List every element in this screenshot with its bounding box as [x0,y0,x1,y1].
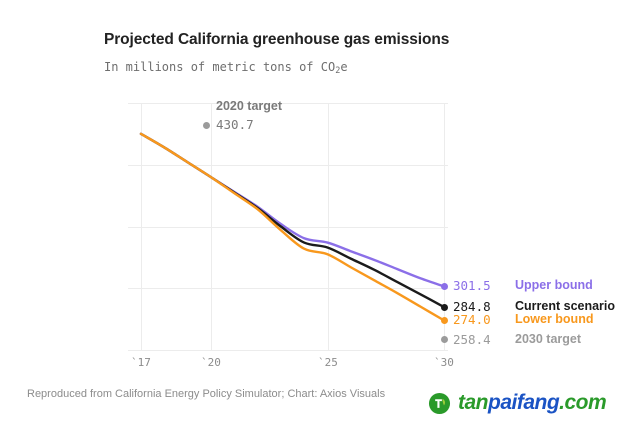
endpoint-value-lower-bound: 274.0 [453,312,491,327]
xtick-label-2025: `25 [318,356,338,369]
gridline-y-350 [128,227,448,228]
gridline-y-450 [128,103,448,104]
chart-title: Projected California greenhouse gas emis… [104,31,449,49]
chart-subtitle-subscript: 2 [335,66,340,76]
endpoint-value-2030-target: 258.4 [453,332,491,347]
footer-credit: Reproduced from California Energy Policy… [27,388,385,400]
annotation-2020-target-value: 430.7 [216,117,254,132]
footer-divider [0,378,630,379]
legend-label-2030-target: 2030 target [515,332,581,346]
plot-area [128,103,448,350]
chart-card: Projected California greenhouse gas emis… [0,0,630,427]
gridline-x-2020 [211,103,212,350]
endpoint-dot-2030-target [441,336,448,343]
watermark-text: tanpaifang.com [458,391,606,415]
annotation-2020-target-label: 2020 target [216,99,282,113]
gridline-y-300 [128,288,448,289]
chart-subtitle-prefix: In millions of metric tons of CO [104,60,335,74]
endpoint-value-upper-bound: 301.5 [453,278,491,293]
annotation-2020-target-dot [203,122,210,129]
xtick-label-2017: `17 [131,356,151,369]
gridline-y-400 [128,165,448,166]
watermark: tanpaifang.com [428,391,606,415]
tanpaifang-leaf-logo-icon [428,392,451,415]
gridline-x-2030 [444,103,445,350]
endpoint-dot-upper-bound [441,283,448,290]
gridline-x-2017 [141,103,142,350]
gridline-x-2025 [328,103,329,350]
chart-subtitle: In millions of metric tons of CO2e [104,60,348,74]
watermark-text-part3: .com [559,391,606,414]
xtick-label-2020: `20 [201,356,221,369]
endpoint-dot-lower-bound [441,317,448,324]
gridline-y-250 [128,350,448,351]
legend-label-upper-bound: Upper bound [515,278,593,292]
endpoint-dot-current-scenario [441,304,448,311]
xtick-label-2030: `30 [434,356,454,369]
chart-subtitle-suffix: e [340,60,347,74]
watermark-text-part1: tan [458,391,488,414]
legend-label-lower-bound: Lower bound [515,312,593,326]
legend-label-current-scenario: Current scenario [515,299,615,313]
watermark-text-part2: paifang [488,391,559,414]
